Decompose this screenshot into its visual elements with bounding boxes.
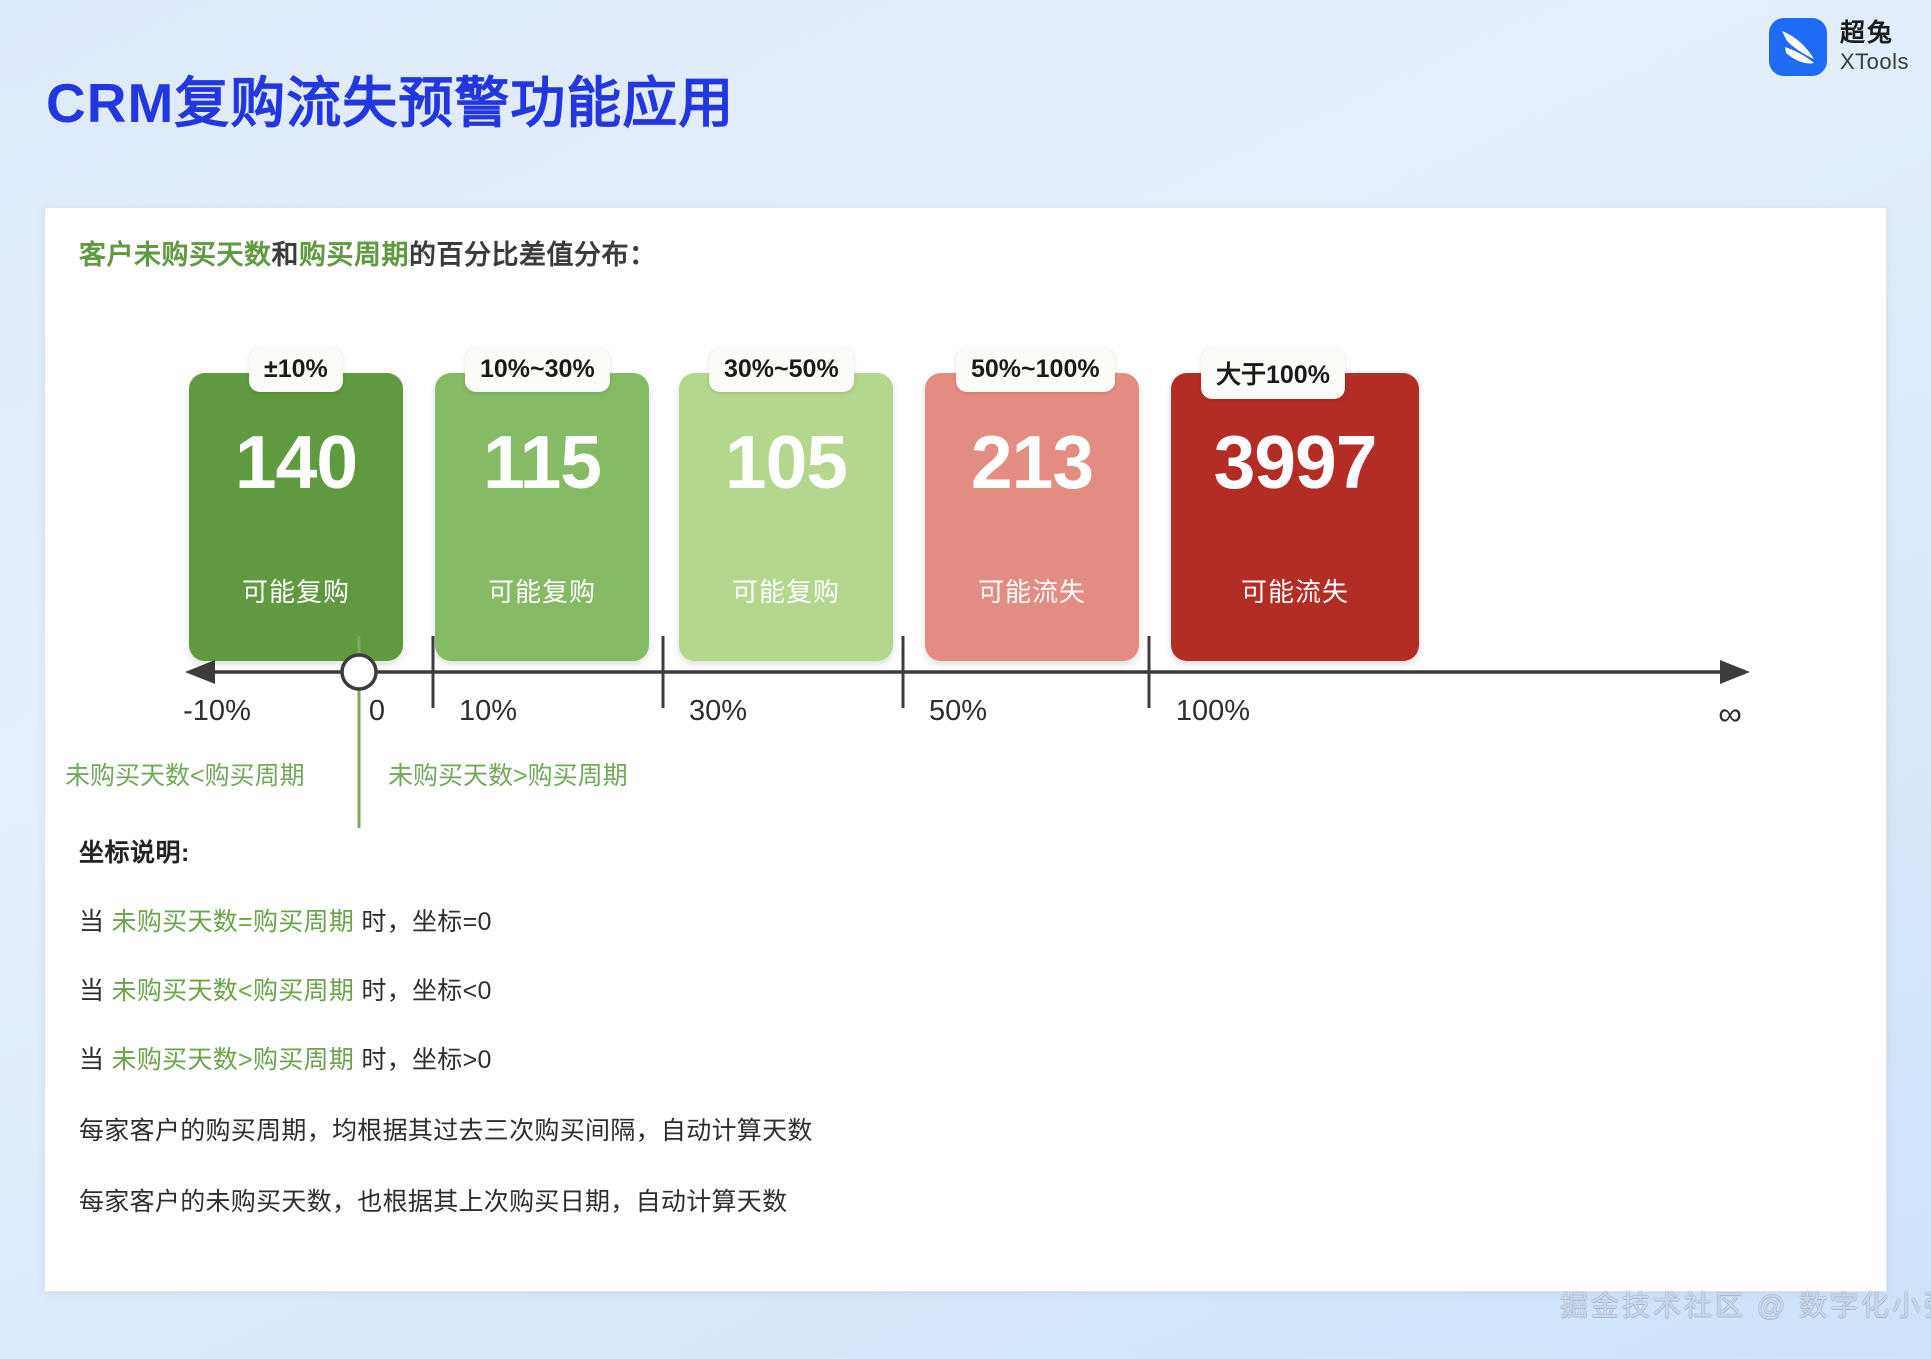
- axis-tick-label: 30%: [689, 695, 747, 728]
- card-badge: 30%~50%: [709, 348, 854, 392]
- rule-post: 时，坐标=0: [354, 908, 492, 936]
- page-header: CRM复购流失预警功能应用 超兔 XTools: [0, 0, 1931, 172]
- rule-green: 未购买天数<购买周期: [112, 977, 355, 1005]
- rule-green: 未购买天数=购买周期: [112, 908, 355, 936]
- card-badge: 大于100%: [1201, 348, 1345, 399]
- axis-tick-label: 0: [369, 695, 385, 728]
- rule-green: 未购买天数>购买周期: [112, 1046, 355, 1074]
- card-badge: 50%~100%: [956, 348, 1115, 392]
- brand-name-en: XTools: [1840, 51, 1909, 73]
- brand-name-cn: 超兔: [1840, 21, 1909, 46]
- card-badge: 10%~30%: [465, 348, 610, 392]
- axis-tick-label: 10%: [459, 695, 517, 728]
- rule-pre: 当: [79, 977, 112, 1005]
- axis-note-left: 未购买天数<购买周期: [65, 756, 305, 792]
- explanation-line-4: 每家客户的购买周期，均根据其过去三次购买间隔，自动计算天数: [79, 1111, 813, 1147]
- axis-tick-label: 50%: [929, 695, 987, 728]
- explanation-heading: 坐标说明:: [79, 833, 813, 869]
- axis-tick-label: ∞: [1718, 695, 1742, 733]
- axis-tick-label: 100%: [1176, 695, 1250, 728]
- card-badge: ±10%: [249, 348, 343, 392]
- coordinate-explanation: 坐标说明: 当 未购买天数=购买周期 时，坐标=0 当 未购买天数<购买周期 时…: [79, 833, 813, 1218]
- content-panel: 客户未购买天数和购买周期的百分比差值分布： ±10% 140 可能复购 10%~…: [44, 207, 1887, 1292]
- rule-post: 时，坐标>0: [354, 1046, 492, 1074]
- page-title: CRM复购流失预警功能应用: [46, 58, 734, 138]
- brand-text: 超兔 XTools: [1840, 21, 1909, 73]
- explanation-rule-3: 当 未购买天数>购买周期 时，坐标>0: [79, 1040, 813, 1076]
- watermark: 掘金技术社区 @ 数字化小张: [1560, 1284, 1931, 1324]
- explanation-rule-2: 当 未购买天数<购买周期 时，坐标<0: [79, 971, 813, 1007]
- rule-post: 时，坐标<0: [354, 977, 492, 1005]
- brand-logo: 超兔 XTools: [1769, 18, 1909, 76]
- rule-pre: 当: [79, 1046, 112, 1074]
- rabbit-swoosh-icon: [1769, 18, 1827, 76]
- explanation-line-5: 每家客户的未购买天数，也根据其上次购买日期，自动计算天数: [79, 1182, 813, 1218]
- rule-pre: 当: [79, 908, 112, 936]
- axis-tick-label: -10%: [183, 695, 251, 728]
- explanation-rule-1: 当 未购买天数=购买周期 时，坐标=0: [79, 902, 813, 938]
- axis-note-right: 未购买天数>购买周期: [388, 756, 628, 792]
